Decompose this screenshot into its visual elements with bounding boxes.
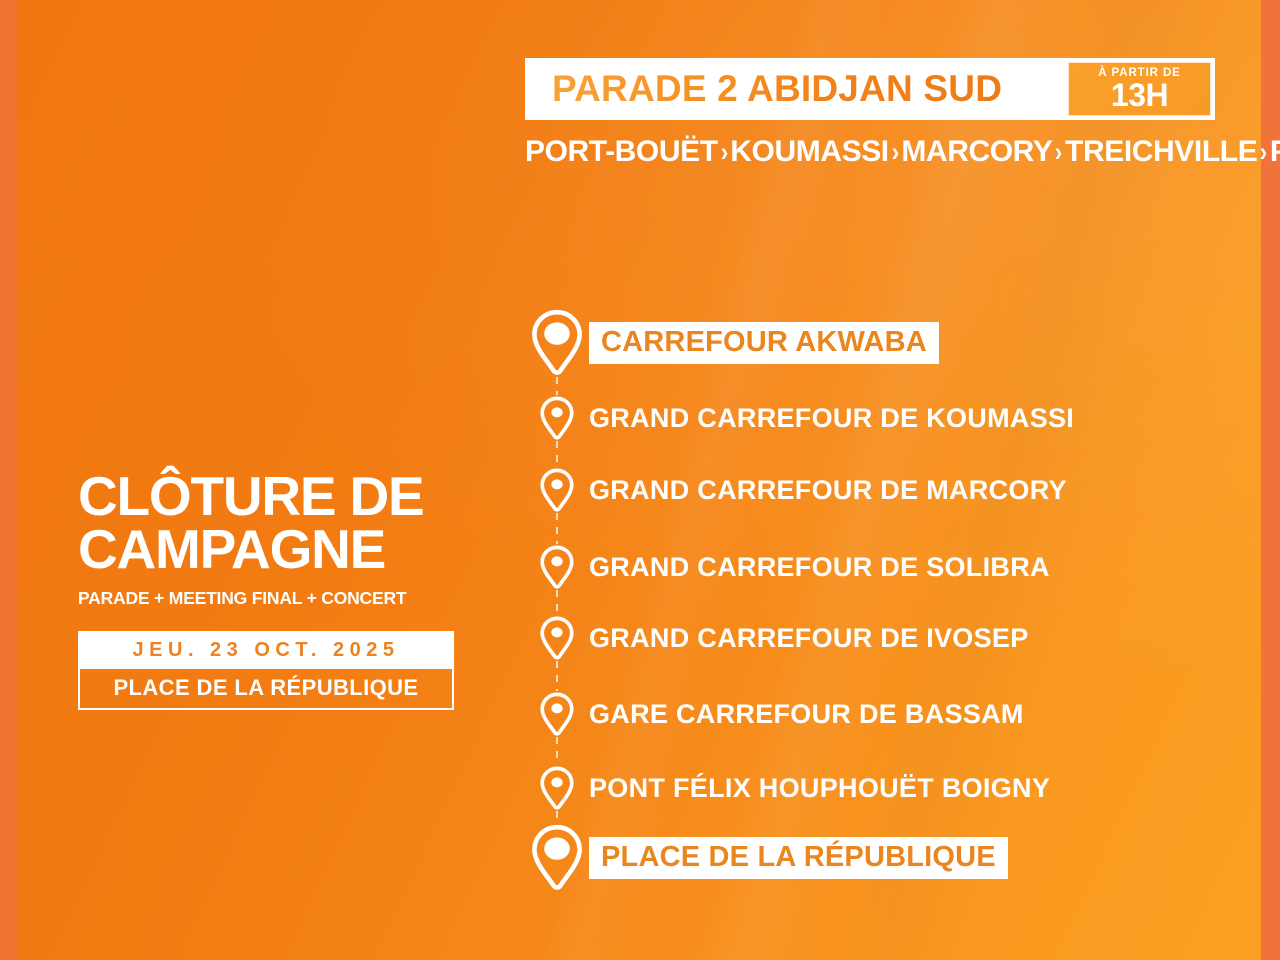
map-pin-icon bbox=[525, 468, 589, 513]
map-pin-icon bbox=[525, 766, 589, 811]
event-branding-block: CLÔTURE DE CAMPAGNE PARADE + MEETING FIN… bbox=[78, 470, 470, 710]
event-headline: CLÔTURE DE CAMPAGNE bbox=[78, 470, 470, 576]
event-date-venue-box: JEU. 23 OCT. 2025 PLACE DE LA RÉPUBLIQUE bbox=[78, 631, 454, 710]
stop-label: PLACE DE LA RÉPUBLIQUE bbox=[589, 837, 1008, 879]
route-district-1: PORT-BOUËT bbox=[525, 135, 718, 168]
stop-connector-line bbox=[556, 811, 558, 824]
stop-connector-line bbox=[556, 737, 558, 765]
poster-canvas: PARADE 2 ABIDJAN SUD À PARTIR DE 13H POR… bbox=[0, 0, 1280, 960]
route-district-5: PLATEAU bbox=[1270, 135, 1280, 168]
map-pin-icon bbox=[540, 545, 574, 590]
start-time-value: 13H bbox=[1111, 81, 1168, 110]
stop-connector-line bbox=[556, 441, 558, 467]
stop-row[interactable]: GRAND CARREFOUR DE KOUMASSI bbox=[525, 386, 1074, 450]
map-pin-icon bbox=[540, 692, 574, 737]
chevron-right-icon: › bbox=[1055, 136, 1062, 168]
parade-stops-timeline: CARREFOUR AKWABAGRAND CARREFOUR DE KOUMA… bbox=[525, 300, 1245, 900]
stop-label: GRAND CARREFOUR DE KOUMASSI bbox=[589, 403, 1074, 434]
event-date: JEU. 23 OCT. 2025 bbox=[78, 631, 454, 669]
event-subtitle: PARADE + MEETING FINAL + CONCERT bbox=[78, 588, 470, 609]
map-pin-icon bbox=[540, 766, 574, 811]
map-pin-icon bbox=[525, 545, 589, 590]
stop-row[interactable]: PLACE DE LA RÉPUBLIQUE bbox=[525, 826, 1008, 890]
parade-title-container: PARADE 2 ABIDJAN SUD bbox=[525, 58, 1068, 120]
stop-label: GRAND CARREFOUR DE MARCORY bbox=[589, 475, 1067, 506]
map-pin-icon bbox=[531, 309, 583, 377]
parade-title-bar: PARADE 2 ABIDJAN SUD À PARTIR DE 13H bbox=[525, 58, 1215, 120]
map-pin-icon bbox=[525, 309, 589, 377]
left-edge-strip bbox=[0, 0, 17, 960]
route-district-4: TREICHVILLE bbox=[1065, 135, 1257, 168]
map-pin-icon bbox=[540, 616, 574, 661]
map-pin-icon bbox=[525, 616, 589, 661]
start-time-badge: À PARTIR DE 13H bbox=[1068, 62, 1211, 116]
stop-row[interactable]: PONT FÉLIX HOUPHOUËT BOIGNY bbox=[525, 756, 1050, 820]
stop-label: PONT FÉLIX HOUPHOUËT BOIGNY bbox=[589, 773, 1050, 804]
map-pin-icon bbox=[525, 692, 589, 737]
stop-connector-line bbox=[556, 661, 558, 691]
map-pin-icon bbox=[540, 396, 574, 441]
chevron-right-icon: › bbox=[720, 136, 727, 168]
stop-label: GRAND CARREFOUR DE IVOSEP bbox=[589, 623, 1029, 654]
stop-row[interactable]: CARREFOUR AKWABA bbox=[525, 311, 939, 375]
route-district-3: MARCORY bbox=[901, 135, 1052, 168]
route-districts-text: PORT-BOUËT › KOUMASSI › MARCORY › TREICH… bbox=[525, 134, 1230, 170]
page-title: PARADE 2 ABIDJAN SUD bbox=[552, 68, 1002, 110]
stop-row[interactable]: GRAND CARREFOUR DE SOLIBRA bbox=[525, 535, 1050, 599]
stop-row[interactable]: GRAND CARREFOUR DE IVOSEP bbox=[525, 606, 1029, 670]
chevron-right-icon: › bbox=[891, 136, 898, 168]
stop-connector-line bbox=[556, 377, 558, 395]
stop-row[interactable]: GRAND CARREFOUR DE MARCORY bbox=[525, 458, 1067, 522]
stop-label: CARREFOUR AKWABA bbox=[589, 322, 939, 364]
chevron-right-icon: › bbox=[1260, 136, 1267, 168]
stop-connector-line bbox=[556, 590, 558, 615]
route-district-2: KOUMASSI bbox=[730, 135, 888, 168]
map-pin-icon bbox=[531, 824, 583, 892]
event-venue: PLACE DE LA RÉPUBLIQUE bbox=[78, 669, 454, 710]
event-headline-line2: CAMPAGNE bbox=[78, 523, 470, 576]
map-pin-icon bbox=[540, 468, 574, 513]
stop-connector-line bbox=[556, 513, 558, 544]
stop-label: GARE CARREFOUR DE BASSAM bbox=[589, 699, 1024, 730]
map-pin-icon bbox=[525, 824, 589, 892]
route-districts: PORT-BOUËT › KOUMASSI › MARCORY › TREICH… bbox=[525, 134, 1230, 170]
stop-row[interactable]: GARE CARREFOUR DE BASSAM bbox=[525, 682, 1024, 746]
map-pin-icon bbox=[525, 396, 589, 441]
stop-label: GRAND CARREFOUR DE SOLIBRA bbox=[589, 552, 1050, 583]
